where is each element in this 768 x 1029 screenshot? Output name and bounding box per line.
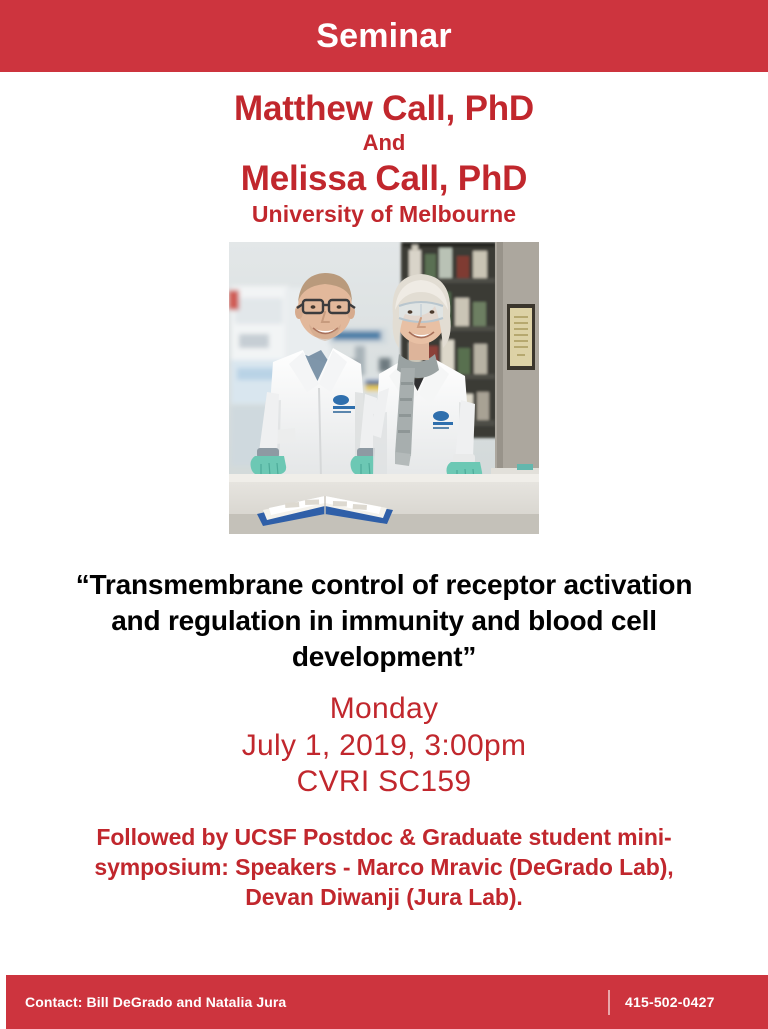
header-bar: Seminar <box>0 0 768 72</box>
footer-bar: Contact: Bill DeGrado and Natalia Jura 4… <box>6 975 768 1029</box>
seminar-poster: Seminar Matthew Call, PhD And Melissa Ca… <box>0 0 768 1029</box>
footer-phone: 415-502-0427 <box>625 994 715 1010</box>
footer-contact: Contact: Bill DeGrado and Natalia Jura <box>25 994 286 1010</box>
speaker-primary-name: Matthew Call, PhD <box>234 89 534 128</box>
event-date-time: July 1, 2019, 3:00pm <box>242 728 527 765</box>
speaker-secondary-name: Melissa Call, PhD <box>234 159 534 198</box>
event-day: Monday <box>242 691 527 728</box>
speaker-affiliation: University of Melbourne <box>234 201 534 229</box>
event-details: Monday July 1, 2019, 3:00pm CVRI SC159 <box>242 691 527 801</box>
symposium-note: Followed by UCSF Postdoc & Graduate stud… <box>64 822 704 913</box>
poster-content: Matthew Call, PhD And Melissa Call, PhD … <box>0 72 768 1029</box>
event-location: CVRI SC159 <box>242 764 527 801</box>
page-title: Seminar <box>316 19 452 53</box>
talk-title: “Transmembrane control of receptor activ… <box>64 567 704 674</box>
speaker-photo-illustration <box>229 242 539 534</box>
speaker-conjunction: And <box>234 129 534 157</box>
footer-divider <box>608 990 610 1015</box>
speaker-photo <box>229 242 539 534</box>
speaker-block: Matthew Call, PhD And Melissa Call, PhD … <box>234 89 534 228</box>
